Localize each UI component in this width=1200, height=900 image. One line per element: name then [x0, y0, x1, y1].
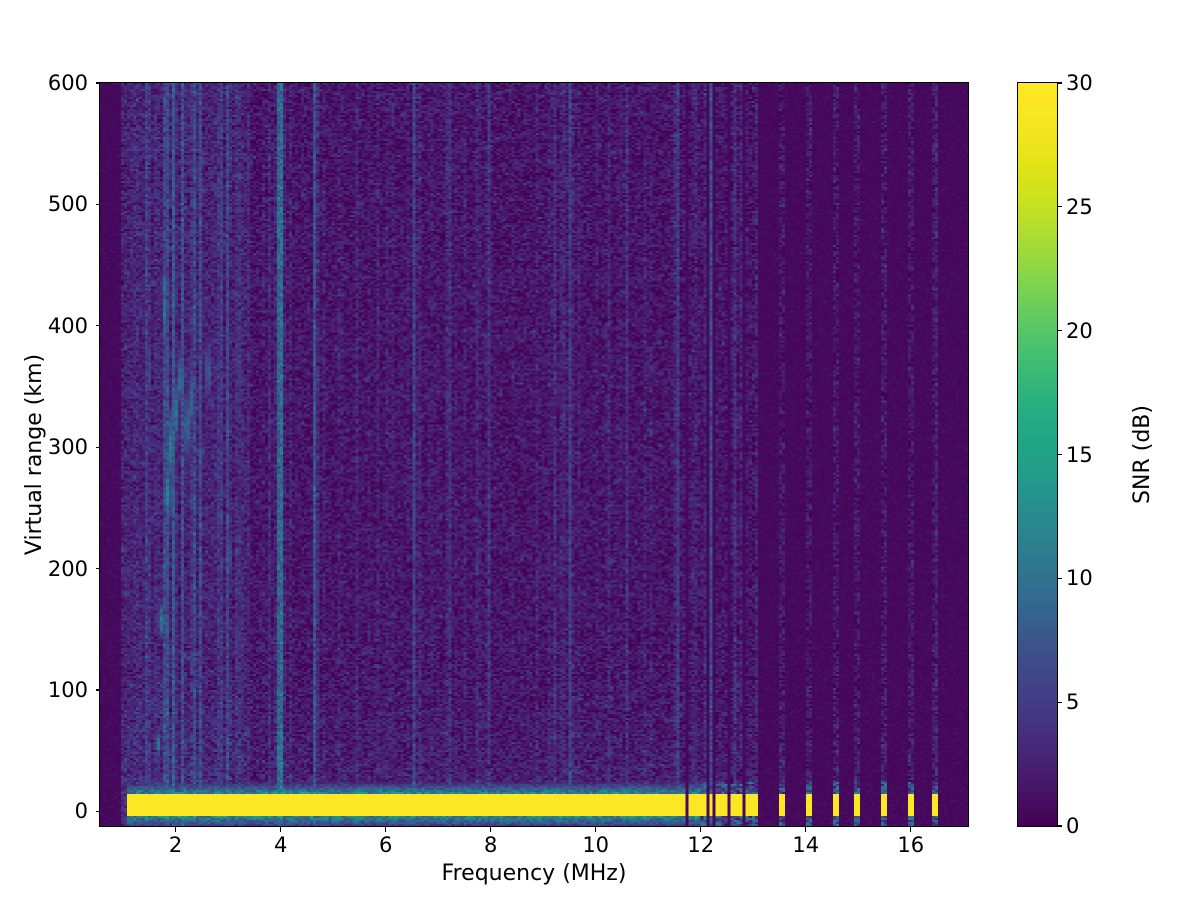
y-tick-mark	[96, 447, 101, 448]
y-tick-label: 0	[75, 799, 88, 823]
colorbar-tick-label: 15	[1066, 443, 1093, 467]
ionogram-axes	[99, 82, 969, 827]
y-tick-label: 300	[48, 435, 88, 459]
y-tick-label: 100	[48, 678, 88, 702]
x-tick-mark	[385, 827, 386, 832]
y-tick-label: 600	[48, 71, 88, 95]
colorbar-tick-label: 0	[1066, 814, 1079, 838]
x-tick-mark	[910, 827, 911, 832]
colorbar-label: SNR (dB)	[1130, 83, 1158, 826]
x-tick-label: 14	[792, 833, 819, 857]
y-axis-label: Virtual range (km)	[22, 83, 52, 826]
x-tick-label: 10	[582, 833, 609, 857]
y-tick-label: 500	[48, 192, 88, 216]
ionogram-figure: IRF Uppsala SDR Ionosonde UP158 2026-03-…	[0, 0, 1200, 900]
colorbar	[1017, 82, 1058, 827]
x-tick-mark	[175, 827, 176, 832]
colorbar-gradient	[1018, 83, 1057, 826]
x-tick-mark	[595, 827, 596, 832]
x-tick-label: 4	[274, 833, 287, 857]
x-tick-mark	[490, 827, 491, 832]
y-tick-mark	[96, 689, 101, 690]
colorbar-tick-label: 30	[1066, 71, 1093, 95]
colorbar-tick-label: 10	[1066, 566, 1093, 590]
y-tick-label: 400	[48, 314, 88, 338]
colorbar-tick-label: 25	[1066, 195, 1093, 219]
y-tick-mark	[96, 82, 101, 83]
y-tick-mark	[96, 568, 101, 569]
colorbar-tick-label: 5	[1066, 690, 1079, 714]
y-tick-mark	[96, 811, 101, 812]
colorbar-tick-label: 20	[1066, 319, 1093, 343]
y-tick-mark	[96, 325, 101, 326]
x-tick-label: 6	[379, 833, 392, 857]
y-tick-label: 200	[48, 557, 88, 581]
x-tick-label: 2	[169, 833, 182, 857]
ionogram-heatmap	[100, 83, 968, 826]
x-tick-mark	[280, 827, 281, 832]
x-tick-label: 8	[484, 833, 497, 857]
x-axis-label: Frequency (MHz)	[100, 861, 968, 886]
x-tick-label: 16	[897, 833, 924, 857]
x-tick-mark	[700, 827, 701, 832]
y-tick-mark	[96, 204, 101, 205]
x-tick-mark	[805, 827, 806, 832]
x-tick-label: 12	[687, 833, 714, 857]
